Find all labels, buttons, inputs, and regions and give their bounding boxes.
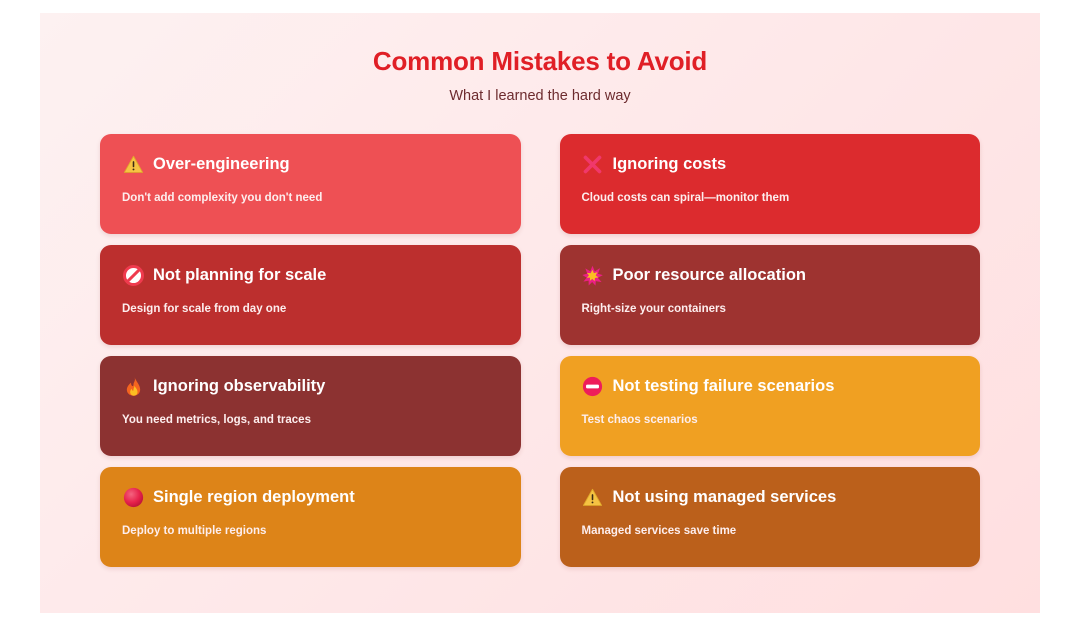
mistake-card-header: Single region deployment — [122, 485, 499, 511]
mistake-card[interactable]: Over-engineeringDon't add complexity you… — [100, 134, 521, 234]
slide-content: Common Mistakes to Avoid What I learned … — [40, 13, 1040, 613]
mistake-card-title: Ignoring observability — [153, 377, 325, 396]
collision-icon — [582, 265, 604, 287]
mistake-card[interactable]: Ignoring observabilityYou need metrics, … — [100, 356, 521, 456]
mistake-card-description: Test chaos scenarios — [582, 413, 959, 428]
mistake-card-title: Over-engineering — [153, 155, 290, 174]
mistake-card-header: Poor resource allocation — [582, 263, 959, 289]
warning-triangle-icon — [122, 154, 144, 176]
mistake-card-title: Ignoring costs — [613, 155, 727, 174]
mistake-card[interactable]: Ignoring costsCloud costs can spiral—mon… — [560, 134, 981, 234]
no-entry-icon — [582, 376, 604, 398]
slide-canvas: Common Mistakes to Avoid What I learned … — [40, 13, 1040, 613]
mistake-card-description: Don't add complexity you don't need — [122, 191, 499, 206]
cross-mark-icon — [582, 154, 604, 176]
mistake-card[interactable]: Poor resource allocationRight-size your … — [560, 245, 981, 345]
mistake-card-description: Managed services save time — [582, 524, 959, 539]
mistake-card-description: Deploy to multiple regions — [122, 524, 499, 539]
page-subtitle: What I learned the hard way — [100, 88, 980, 105]
red-circle-icon — [122, 487, 144, 509]
mistake-card-header: Over-engineering — [122, 152, 499, 178]
mistakes-grid: Over-engineeringDon't add complexity you… — [100, 134, 980, 577]
mistake-card-title: Not planning for scale — [153, 266, 326, 285]
mistake-card-description: Design for scale from day one — [122, 302, 499, 317]
mistake-card-header: Not planning for scale — [122, 263, 499, 289]
mistake-card-header: Ignoring costs — [582, 152, 959, 178]
mistake-card-header: Not testing failure scenarios — [582, 374, 959, 400]
mistake-card-title: Not using managed services — [613, 488, 837, 507]
mistake-card-description: You need metrics, logs, and traces — [122, 413, 499, 428]
mistake-card-title: Poor resource allocation — [613, 266, 806, 285]
mistake-card-description: Right-size your containers — [582, 302, 959, 317]
mistake-card[interactable]: Single region deploymentDeploy to multip… — [100, 467, 521, 567]
mistake-card-title: Single region deployment — [153, 488, 355, 507]
warning-triangle-icon — [582, 487, 604, 509]
mistake-card-description: Cloud costs can spiral—monitor them — [582, 191, 959, 206]
mistake-card[interactable]: Not testing failure scenariosTest chaos … — [560, 356, 981, 456]
prohibited-icon — [122, 265, 144, 287]
mistake-card[interactable]: Not planning for scaleDesign for scale f… — [100, 245, 521, 345]
page-title: Common Mistakes to Avoid — [100, 46, 980, 77]
mistake-card[interactable]: Not using managed servicesManaged servic… — [560, 467, 981, 567]
mistake-card-title: Not testing failure scenarios — [613, 377, 835, 396]
slide-header: Common Mistakes to Avoid What I learned … — [100, 33, 980, 106]
fire-icon — [122, 376, 144, 398]
mistake-card-header: Not using managed services — [582, 485, 959, 511]
mistake-card-header: Ignoring observability — [122, 374, 499, 400]
